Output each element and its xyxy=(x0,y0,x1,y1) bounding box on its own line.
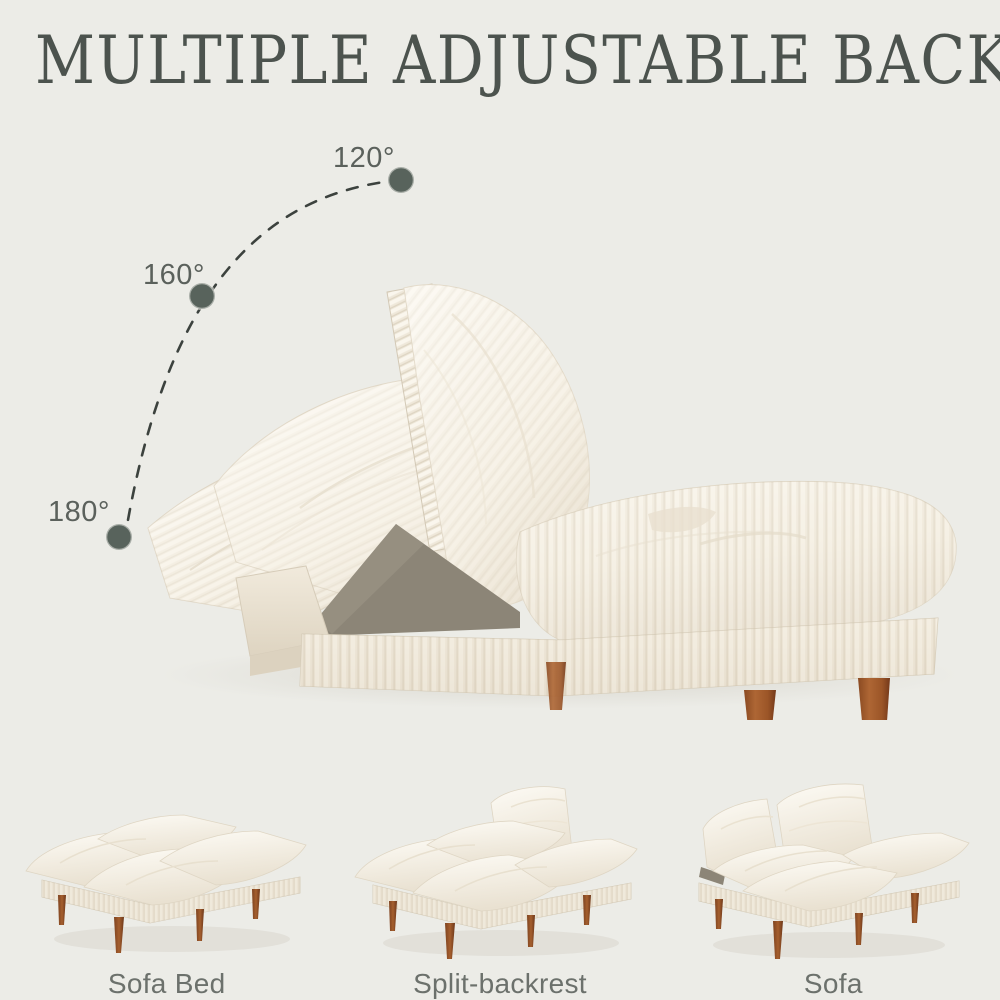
angle-dot-180[interactable] xyxy=(105,523,133,551)
mode-sofa-bed[interactable]: Sofa Bed xyxy=(0,735,333,1000)
hero-illustration: 120° 160° 180° xyxy=(0,100,1000,720)
angle-label-180: 180° xyxy=(48,496,110,529)
mode-split-backrest-art xyxy=(333,767,666,962)
angle-label-120: 120° xyxy=(333,142,395,175)
leg-front-left xyxy=(744,690,776,720)
leg-front-right xyxy=(858,678,890,720)
page-title: MULTIPLE ADJUSTABLE BACKREST xyxy=(35,26,965,96)
mode-sofa-label: Sofa xyxy=(804,968,863,1000)
split-backrest-svg xyxy=(333,767,666,962)
mode-sofa-bed-art xyxy=(0,767,333,962)
mode-sofa-art xyxy=(667,767,1000,962)
mode-thumbnail-row: Sofa Bed xyxy=(0,735,1000,1000)
product-feature-graphic: MULTIPLE ADJUSTABLE BACKREST xyxy=(0,0,1000,1000)
sofa-svg xyxy=(667,767,1000,962)
angle-dot-120[interactable] xyxy=(387,166,415,194)
hero-sofa-svg xyxy=(0,100,1000,720)
mode-sofa[interactable]: Sofa xyxy=(667,735,1000,1000)
mode-split-backrest[interactable]: Split-backrest xyxy=(333,735,666,1000)
angle-dot-160[interactable] xyxy=(188,282,216,310)
mode-split-backrest-label: Split-backrest xyxy=(413,968,587,1000)
sofa-bed-svg xyxy=(0,767,333,962)
mode-sofa-bed-label: Sofa Bed xyxy=(108,968,226,1000)
